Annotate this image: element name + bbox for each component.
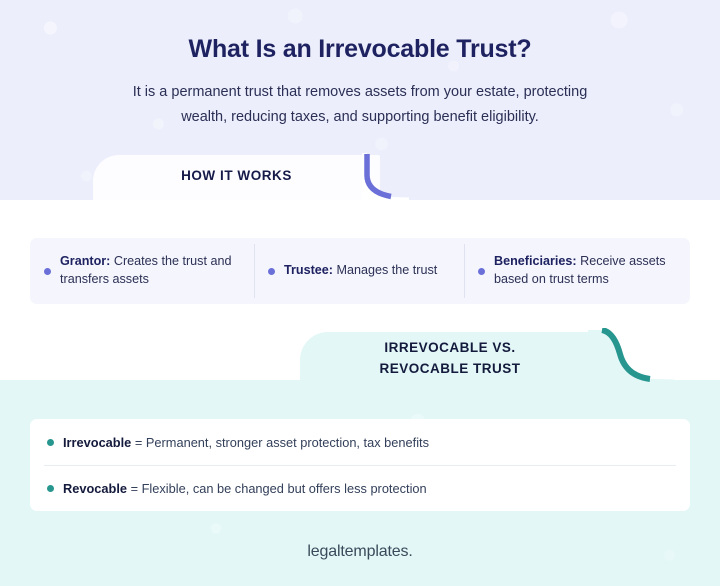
- roles-card: Grantor: Creates the trust and transfers…: [30, 238, 690, 304]
- page-subtitle: It is a permanent trust that removes ass…: [110, 80, 610, 131]
- role-term-beneficiaries: Beneficiaries:: [494, 254, 577, 268]
- comparison-tab-label: IRREVOCABLE VS. REVOCABLE TRUST: [300, 338, 600, 380]
- role-desc-trustee: Manages the trust: [333, 263, 437, 277]
- comparison-term-revocable: Revocable: [63, 481, 127, 496]
- role-item-grantor: Grantor: Creates the trust and transfers…: [30, 238, 254, 304]
- comparison-desc-revocable: = Flexible, can be changed but offers le…: [127, 481, 427, 496]
- bullet-icon: [47, 439, 54, 446]
- bullet-icon: [47, 485, 54, 492]
- role-term-grantor: Grantor:: [60, 254, 110, 268]
- role-item-beneficiaries: Beneficiaries: Receive assets based on t…: [464, 238, 690, 304]
- role-item-trustee: Trustee: Manages the trust: [254, 238, 464, 304]
- how-it-works-tab: HOW IT WORKS: [93, 155, 380, 200]
- comparison-tab-label-line2: REVOCABLE TRUST: [300, 359, 600, 380]
- role-term-trustee: Trustee:: [284, 263, 333, 277]
- role-text-beneficiaries: Beneficiaries: Receive assets based on t…: [494, 253, 678, 289]
- bullet-icon: [268, 268, 275, 275]
- footer-logo: legaltemplates.: [0, 543, 720, 561]
- bullet-icon: [478, 268, 485, 275]
- teal-swoosh-icon: [588, 328, 674, 384]
- comparison-text-irrevocable: Irrevocable = Permanent, stronger asset …: [63, 435, 429, 450]
- purple-swoosh-icon: [362, 152, 410, 202]
- comparison-text-revocable: Revocable = Flexible, can be changed but…: [63, 481, 427, 496]
- comparison-desc-irrevocable: = Permanent, stronger asset protection, …: [131, 435, 429, 450]
- comparison-row-revocable: Revocable = Flexible, can be changed but…: [30, 465, 690, 511]
- comparison-tab-label-line1: IRREVOCABLE VS.: [300, 338, 600, 359]
- page-title: What Is an Irrevocable Trust?: [0, 35, 720, 64]
- how-it-works-tab-label: HOW IT WORKS: [93, 168, 380, 183]
- comparison-row-irrevocable: Irrevocable = Permanent, stronger asset …: [30, 419, 690, 465]
- role-text-trustee: Trustee: Manages the trust: [284, 262, 437, 280]
- role-text-grantor: Grantor: Creates the trust and transfers…: [60, 253, 242, 289]
- comparison-card: Irrevocable = Permanent, stronger asset …: [30, 419, 690, 511]
- infographic-root: What Is an Irrevocable Trust? It is a pe…: [0, 0, 720, 586]
- bullet-icon: [44, 268, 51, 275]
- comparison-term-irrevocable: Irrevocable: [63, 435, 131, 450]
